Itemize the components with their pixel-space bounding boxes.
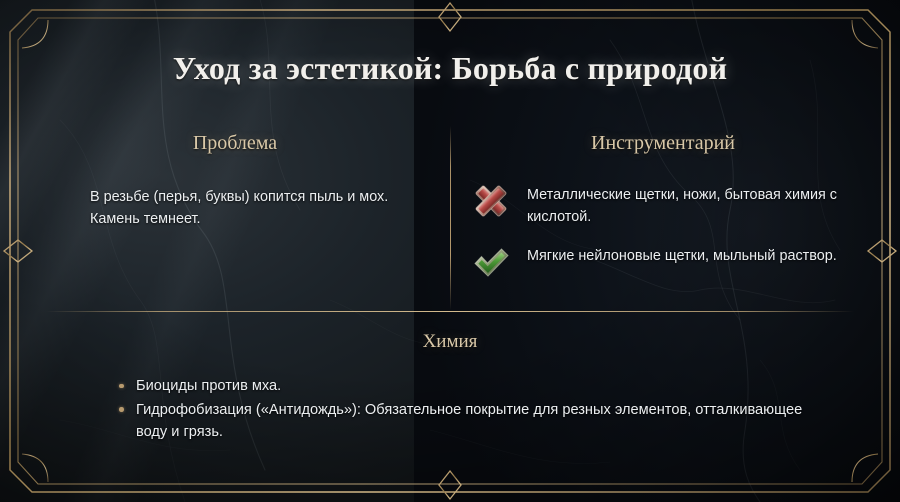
page-title: Уход за эстетикой: Борьба с природой (0, 50, 900, 87)
tool-row-bad: Металлические щетки, ножи, бытовая химия… (468, 183, 858, 228)
column-problem-body: В резьбе (перья, буквы) копится пыль и м… (46, 187, 424, 231)
column-problem-heading: Проблема (46, 132, 424, 155)
column-divider-vertical (450, 126, 451, 310)
tool-row-good: Мягкие нейлоновые щетки, мыльный раствор… (468, 244, 858, 285)
chemistry-bullet-list: Биоциды против мха. Гидрофобизация («Ант… (0, 376, 900, 444)
tool-text-good: Мягкие нейлоновые щетки, мыльный раствор… (527, 244, 837, 268)
column-tools-heading: Инструментарий (468, 132, 858, 155)
green-check-icon (468, 239, 514, 285)
section-chemistry-heading: Химия (0, 331, 900, 353)
tool-list: Металлические щетки, ножи, бытовая химия… (468, 183, 858, 285)
section-divider-horizontal (46, 311, 854, 312)
column-problem: Проблема В резьбе (перья, буквы) копится… (46, 132, 424, 231)
slide-content: Уход за эстетикой: Борьба с природой Про… (0, 0, 900, 502)
section-chemistry: Химия Биоциды против мха. Гидрофобизация… (0, 331, 900, 446)
list-item: Биоциды против мха. (118, 376, 830, 398)
tool-text-bad: Металлические щетки, ножи, бытовая химия… (527, 183, 858, 228)
column-tools: Инструментарий (468, 132, 858, 301)
list-item: Гидрофобизация («Антидождь»): Обязательн… (118, 400, 830, 444)
red-cross-icon (468, 178, 514, 224)
slide-canvas: Уход за эстетикой: Борьба с природой Про… (0, 0, 900, 502)
